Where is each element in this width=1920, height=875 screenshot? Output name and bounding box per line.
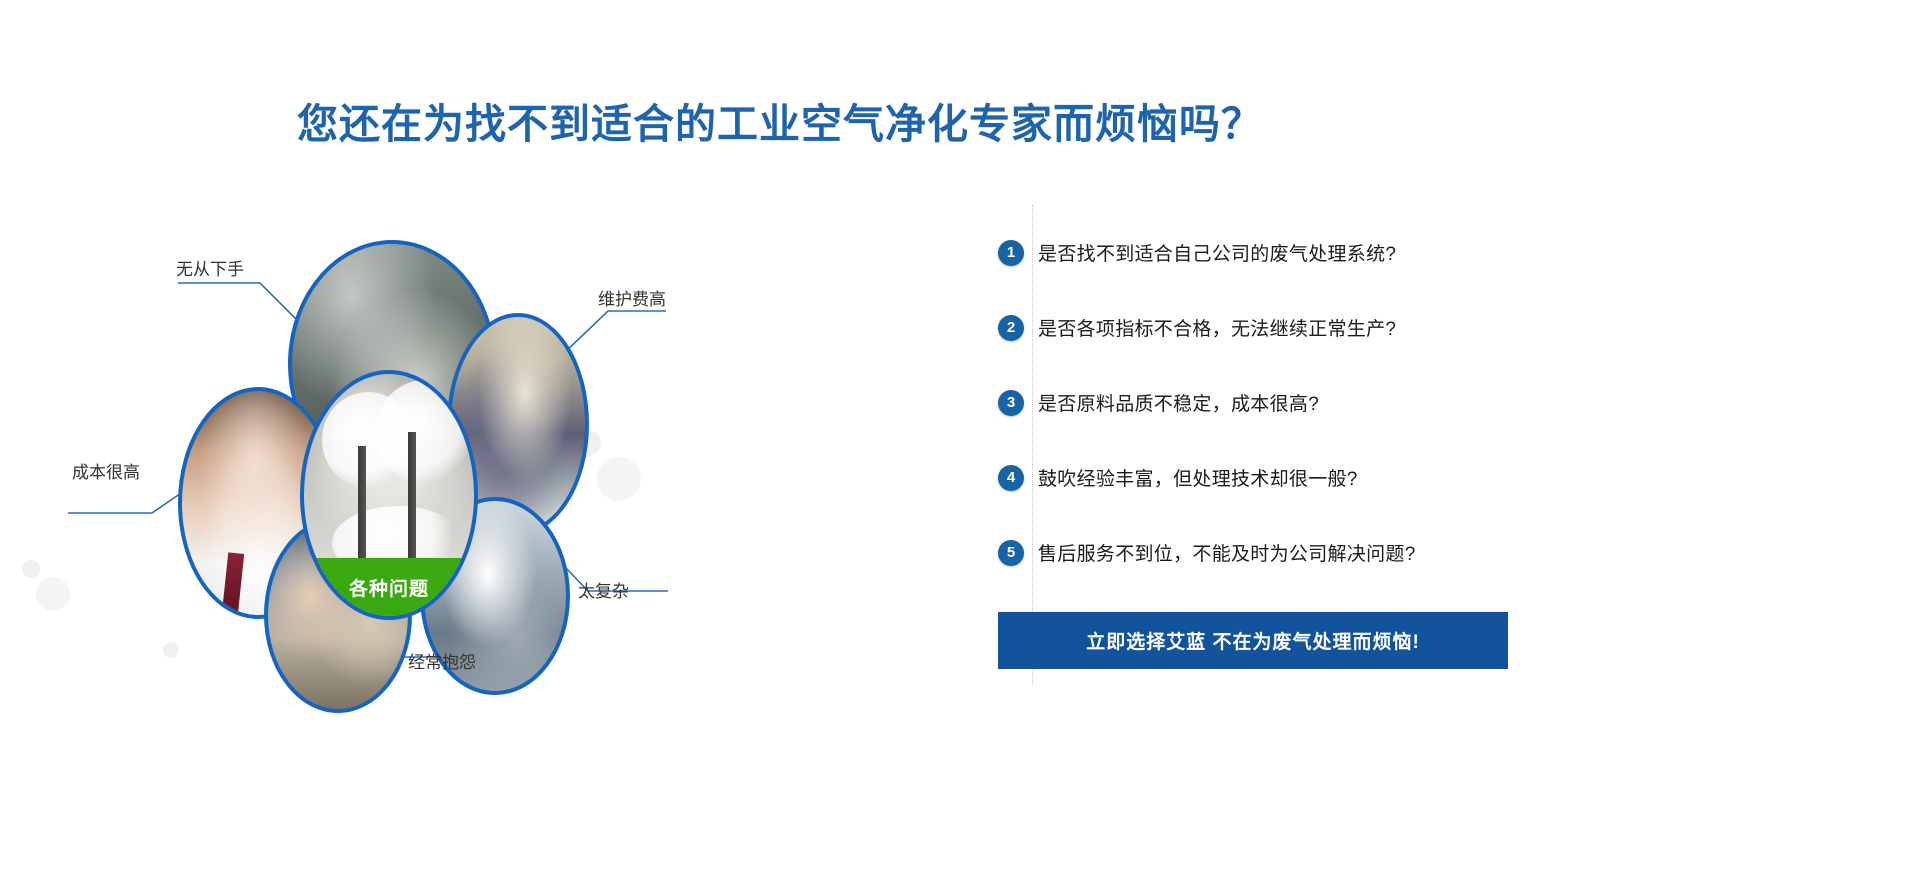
smokestack: [408, 432, 416, 564]
bullet-number: 2: [998, 315, 1024, 341]
decor-bubble: [163, 642, 179, 658]
smoke-plume: [376, 380, 472, 484]
list-item[interactable]: 2 是否各项指标不合格，无法继续正常生产?: [998, 290, 1518, 365]
decor-bubble: [22, 560, 40, 578]
list-item[interactable]: 4 鼓吹经验丰富，但处理技术却很一般?: [998, 440, 1518, 515]
question-text: 是否原料品质不稳定，成本很高?: [1038, 389, 1319, 416]
bullet-number: 3: [998, 390, 1024, 416]
bullet-number: 5: [998, 540, 1024, 566]
problems-flower-illustration: 各种问题 无从下手 维护费高 成本很高 太复杂 经常抱怨: [0, 195, 800, 695]
promo-page: 您还在为找不到适合的工业空气净化专家而烦恼吗？: [0, 0, 1920, 875]
smokestack: [358, 446, 366, 564]
center-band-label: 各种问题: [304, 558, 474, 616]
question-text: 鼓吹经验丰富，但处理技术却很一般?: [1038, 464, 1358, 491]
bullet-number: 4: [998, 465, 1024, 491]
page-title: 您还在为找不到适合的工业空气净化专家而烦恼吗？: [0, 90, 1560, 150]
cta-button[interactable]: 立即选择艾蓝 不在为废气处理而烦恼!: [998, 612, 1508, 669]
callout-label-taifuza: 太复杂: [578, 577, 629, 602]
callout-label-chengbenhengao: 成本很高: [72, 458, 140, 483]
questions-panel: 1 是否找不到适合自己公司的废气处理系统? 2 是否各项指标不合格，无法继续正常…: [998, 215, 1518, 669]
list-item[interactable]: 3 是否原料品质不稳定，成本很高?: [998, 365, 1518, 440]
list-item[interactable]: 5 售后服务不到位，不能及时为公司解决问题?: [998, 515, 1518, 590]
bullet-number: 1: [998, 240, 1024, 266]
question-text: 是否各项指标不合格，无法继续正常生产?: [1038, 314, 1396, 341]
list-item[interactable]: 1 是否找不到适合自己公司的废气处理系统?: [998, 215, 1518, 290]
decor-bubble: [36, 577, 70, 611]
petal-center-problems: 各种问题: [300, 370, 478, 620]
callout-label-weihufeigao: 维护费高: [598, 285, 666, 310]
callout-label-jingchangbaoyuan: 经常抱怨: [408, 648, 476, 673]
question-text: 是否找不到适合自己公司的废气处理系统?: [1038, 239, 1396, 266]
decor-bubble: [597, 457, 641, 501]
question-text: 售后服务不到位，不能及时为公司解决问题?: [1038, 539, 1416, 566]
callout-label-wucongxiashou: 无从下手: [176, 255, 244, 280]
